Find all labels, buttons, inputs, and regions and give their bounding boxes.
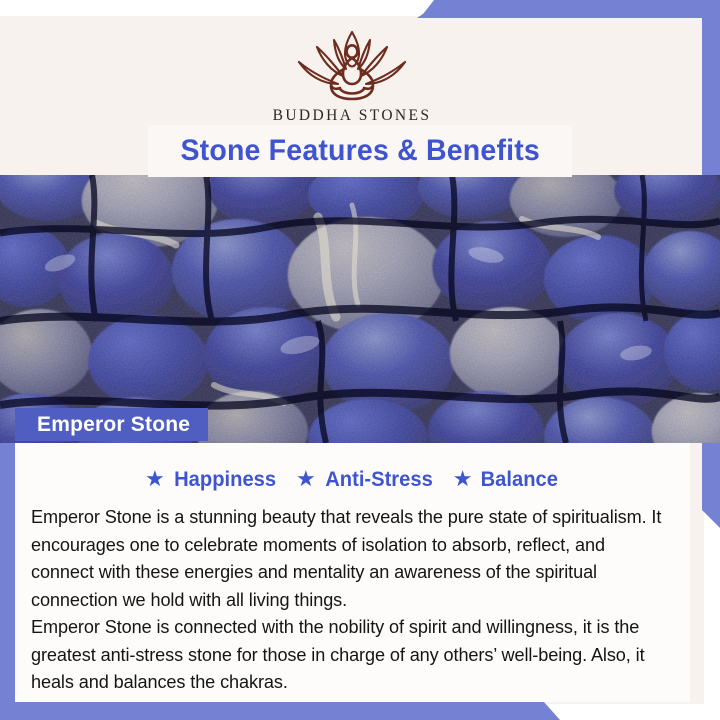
top-blue-band <box>420 0 720 18</box>
lapis-lazuli-tumbled-stones-photo <box>0 175 720 443</box>
product-info-poster: BUDDHA STONES Stone Features & Benefits <box>0 0 720 720</box>
stone-name-label: Emperor Stone <box>15 408 208 441</box>
benefits-row: ★ Happiness ★ Anti-Stress ★ Balance <box>23 465 682 495</box>
description-text: Emperor Stone is a stunning beauty that … <box>23 503 682 696</box>
brand-wordmark: BUDDHA STONES <box>273 107 432 125</box>
stone-description-panel: ★ Happiness ★ Anti-Stress ★ Balance Empe… <box>15 443 690 702</box>
poster-title-ribbon: Stone Features & Benefits <box>148 125 572 177</box>
star-icon: ★ <box>453 468 473 490</box>
star-icon: ★ <box>296 468 316 490</box>
left-blue-rail <box>0 440 15 702</box>
stone-name-text: Emperor Stone <box>37 413 190 437</box>
benefit-label: Happiness <box>174 468 276 492</box>
benefit-item-happiness: ★ Happiness <box>145 468 278 492</box>
benefit-item-anti-stress: ★ Anti-Stress <box>296 468 435 492</box>
benefit-label: Balance <box>481 468 558 492</box>
page-title: Stone Features & Benefits <box>180 134 540 168</box>
star-icon: ★ <box>145 468 165 490</box>
description-paragraph-1: Emperor Stone is a stunning beauty that … <box>31 503 666 613</box>
benefit-label: Anti-Stress <box>325 468 433 492</box>
lotus-meditation-icon <box>277 26 427 104</box>
benefit-item-balance: ★ Balance <box>453 468 560 492</box>
bottom-blue-band <box>0 702 560 720</box>
description-paragraph-2: Emperor Stone is connected with the nobi… <box>31 613 666 696</box>
